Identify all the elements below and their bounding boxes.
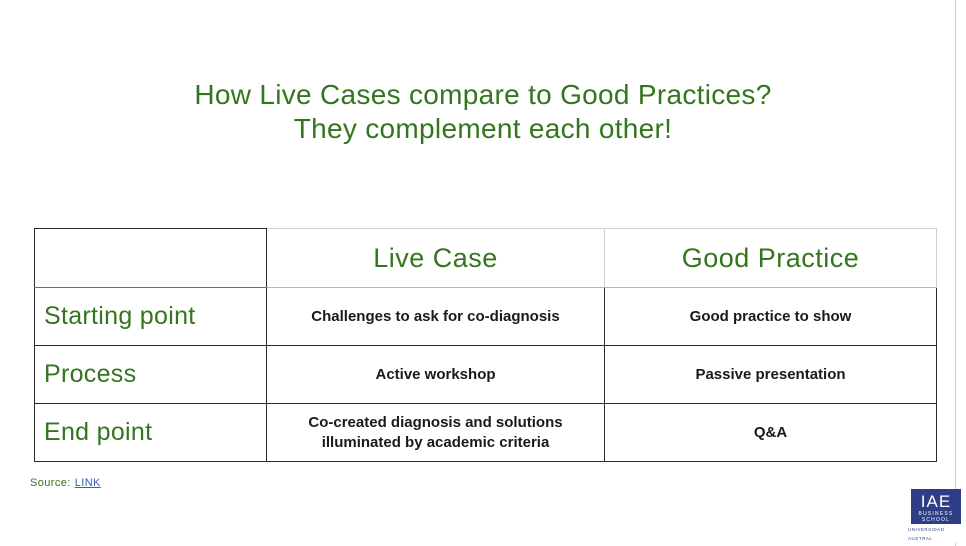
- cell-process-live-case: Active workshop: [267, 346, 605, 404]
- cell-end-point-live-case: Co-created diagnosis and solutions illum…: [267, 404, 605, 462]
- iae-logo: IAE BUSINESS SCHOOL UNIVERSIDAD AUSTRAL: [908, 489, 964, 543]
- iae-logo-university-text: UNIVERSIDAD AUSTRAL: [908, 525, 964, 543]
- table-corner-cell: [35, 229, 267, 288]
- iae-logo-plate: IAE BUSINESS SCHOOL: [911, 489, 961, 524]
- column-header-live-case: Live Case: [267, 229, 605, 288]
- page-title: How Live Cases compare to Good Practices…: [0, 78, 966, 146]
- source-note: Source:LINK: [30, 476, 101, 490]
- table-row: Starting point Challenges to ask for co-…: [35, 288, 937, 346]
- cell-process-good-practice: Passive presentation: [605, 346, 937, 404]
- table-row: Process Active workshop Passive presenta…: [35, 346, 937, 404]
- title-line-1: How Live Cases compare to Good Practices…: [0, 78, 966, 112]
- title-line-2: They complement each other!: [0, 112, 966, 146]
- row-label-process: Process: [35, 346, 267, 404]
- cell-end-point-good-practice: Q&A: [605, 404, 937, 462]
- table-header-row: Live Case Good Practice: [35, 229, 937, 288]
- table-row: End point Co-created diagnosis and solut…: [35, 404, 937, 462]
- cell-starting-point-live-case: Challenges to ask for co-diagnosis: [267, 288, 605, 346]
- row-label-end-point: End point: [35, 404, 267, 462]
- cell-end-point-live-case-line-1: Co-created diagnosis and solutions: [275, 413, 596, 433]
- source-prefix: Source:: [30, 477, 71, 489]
- slide-canvas: How Live Cases compare to Good Practices…: [0, 0, 966, 546]
- iae-logo-wordmark: IAE: [921, 493, 951, 511]
- iae-logo-school-text: SCHOOL: [922, 517, 950, 523]
- cell-end-point-live-case-line-2: illuminated by academic criteria: [275, 433, 596, 453]
- column-header-good-practice: Good Practice: [605, 229, 937, 288]
- cell-starting-point-good-practice: Good practice to show: [605, 288, 937, 346]
- source-link[interactable]: LINK: [75, 477, 101, 489]
- row-label-starting-point: Starting point: [35, 288, 267, 346]
- comparison-table: Live Case Good Practice Starting point C…: [34, 228, 937, 462]
